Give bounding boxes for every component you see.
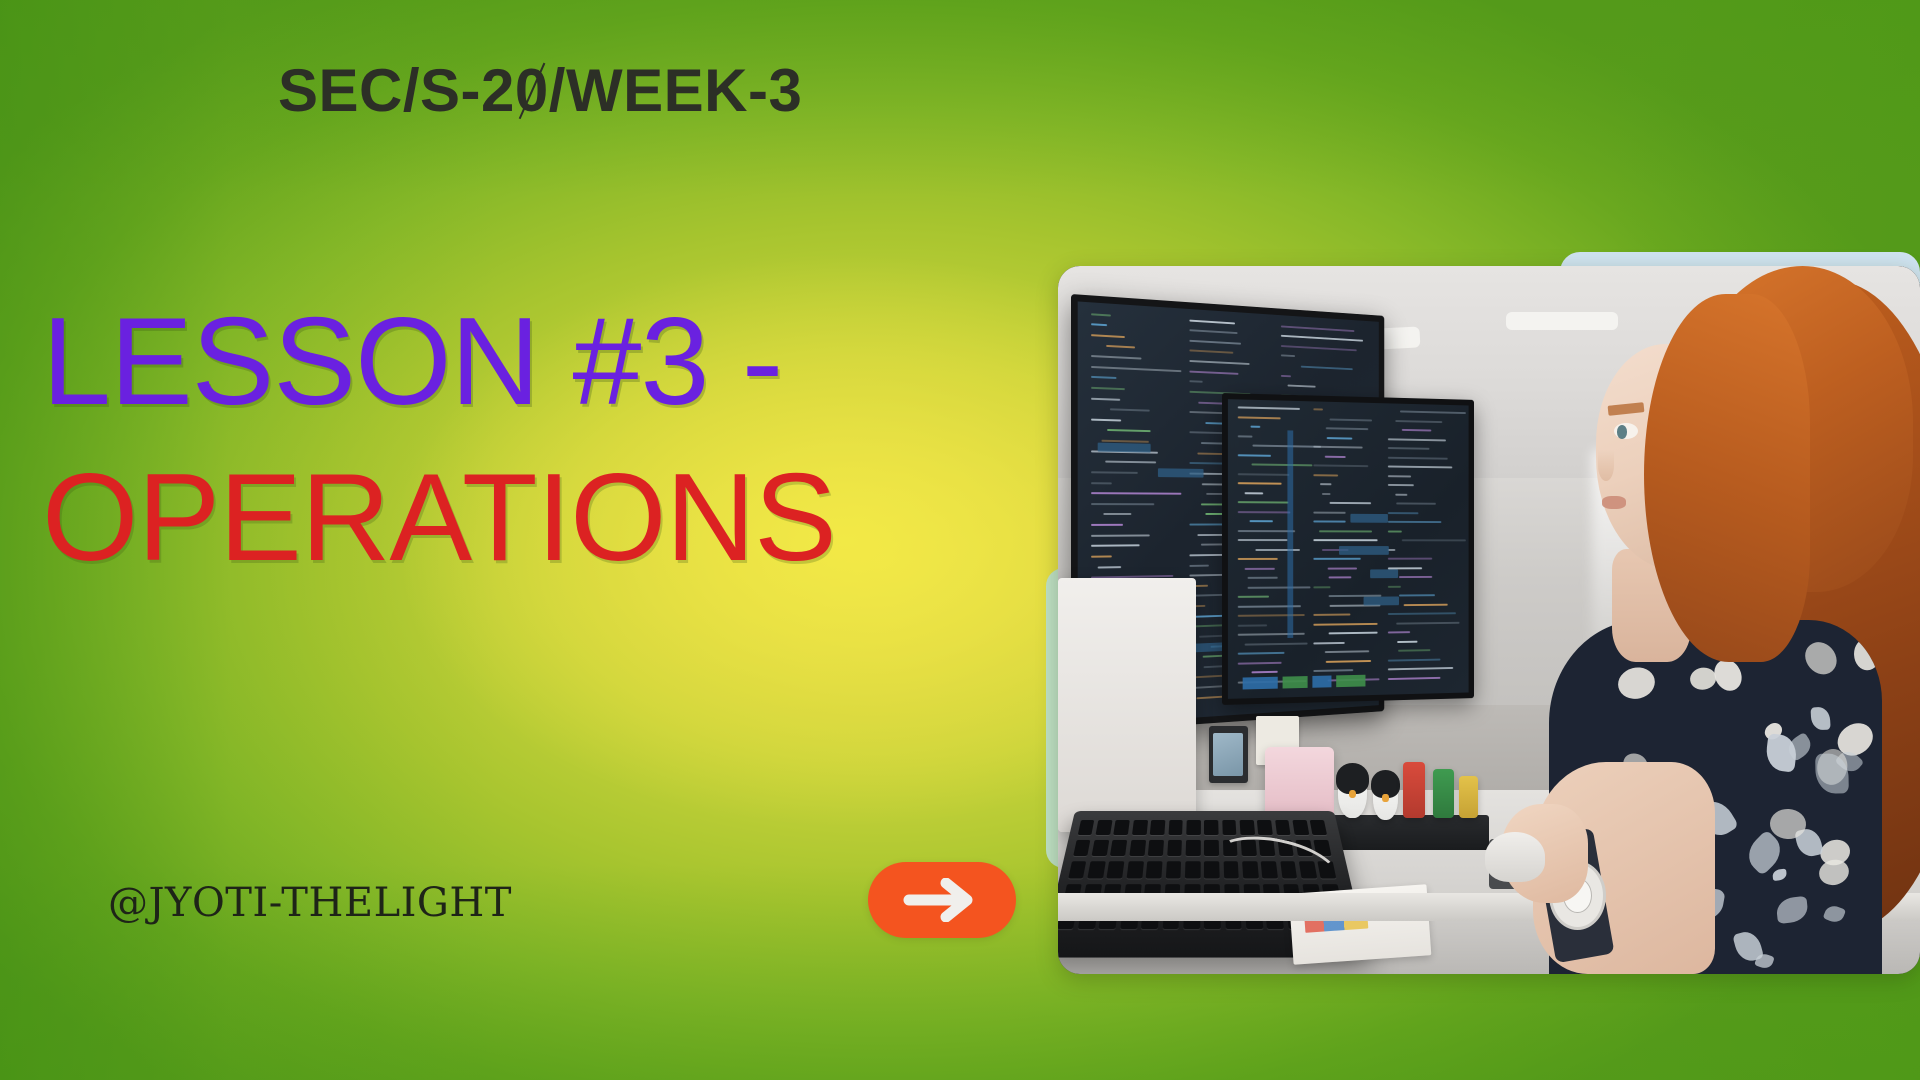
photo-card [1040, 238, 1920, 978]
office-photo [1058, 266, 1920, 974]
headline-line-operations: OPERATIONS [42, 456, 1082, 580]
desk-toy [1433, 769, 1454, 819]
photo-frame [1058, 266, 1920, 974]
slashed-zero-glyph: 0 [515, 56, 549, 125]
headline-line-lesson: LESSON #3 - [42, 300, 1082, 424]
penguin-toy [1373, 772, 1399, 820]
iris [1617, 425, 1627, 438]
course-code-prefix: SEC/S-2 [278, 57, 515, 124]
slide-canvas: SEC/S-20/WEEK-3 LESSON #3 - OPERATIONS @… [0, 0, 1920, 1080]
toy-tray [1325, 815, 1489, 850]
author-handle: @JYOTI-THELIGHT [108, 880, 512, 926]
lips [1602, 496, 1626, 509]
course-code-label: SEC/S-20/WEEK-3 [278, 56, 802, 125]
course-code-suffix: /WEEK-3 [549, 57, 803, 124]
monitor-bezel [1222, 393, 1474, 705]
desk-toy [1403, 762, 1425, 819]
computer-mouse [1485, 832, 1544, 882]
person-figure [1541, 266, 1920, 974]
code-monitor-secondary [1222, 393, 1474, 705]
arrow-right-icon [900, 878, 984, 922]
hair-front-strand [1644, 294, 1811, 662]
next-slide-button[interactable] [868, 862, 1016, 938]
headline-block: LESSON #3 - OPERATIONS [42, 300, 1082, 580]
desk-photo-frame [1209, 726, 1248, 783]
penguin-toy [1338, 765, 1367, 818]
laptop-lid [1058, 578, 1196, 833]
desk-toy [1459, 776, 1478, 818]
